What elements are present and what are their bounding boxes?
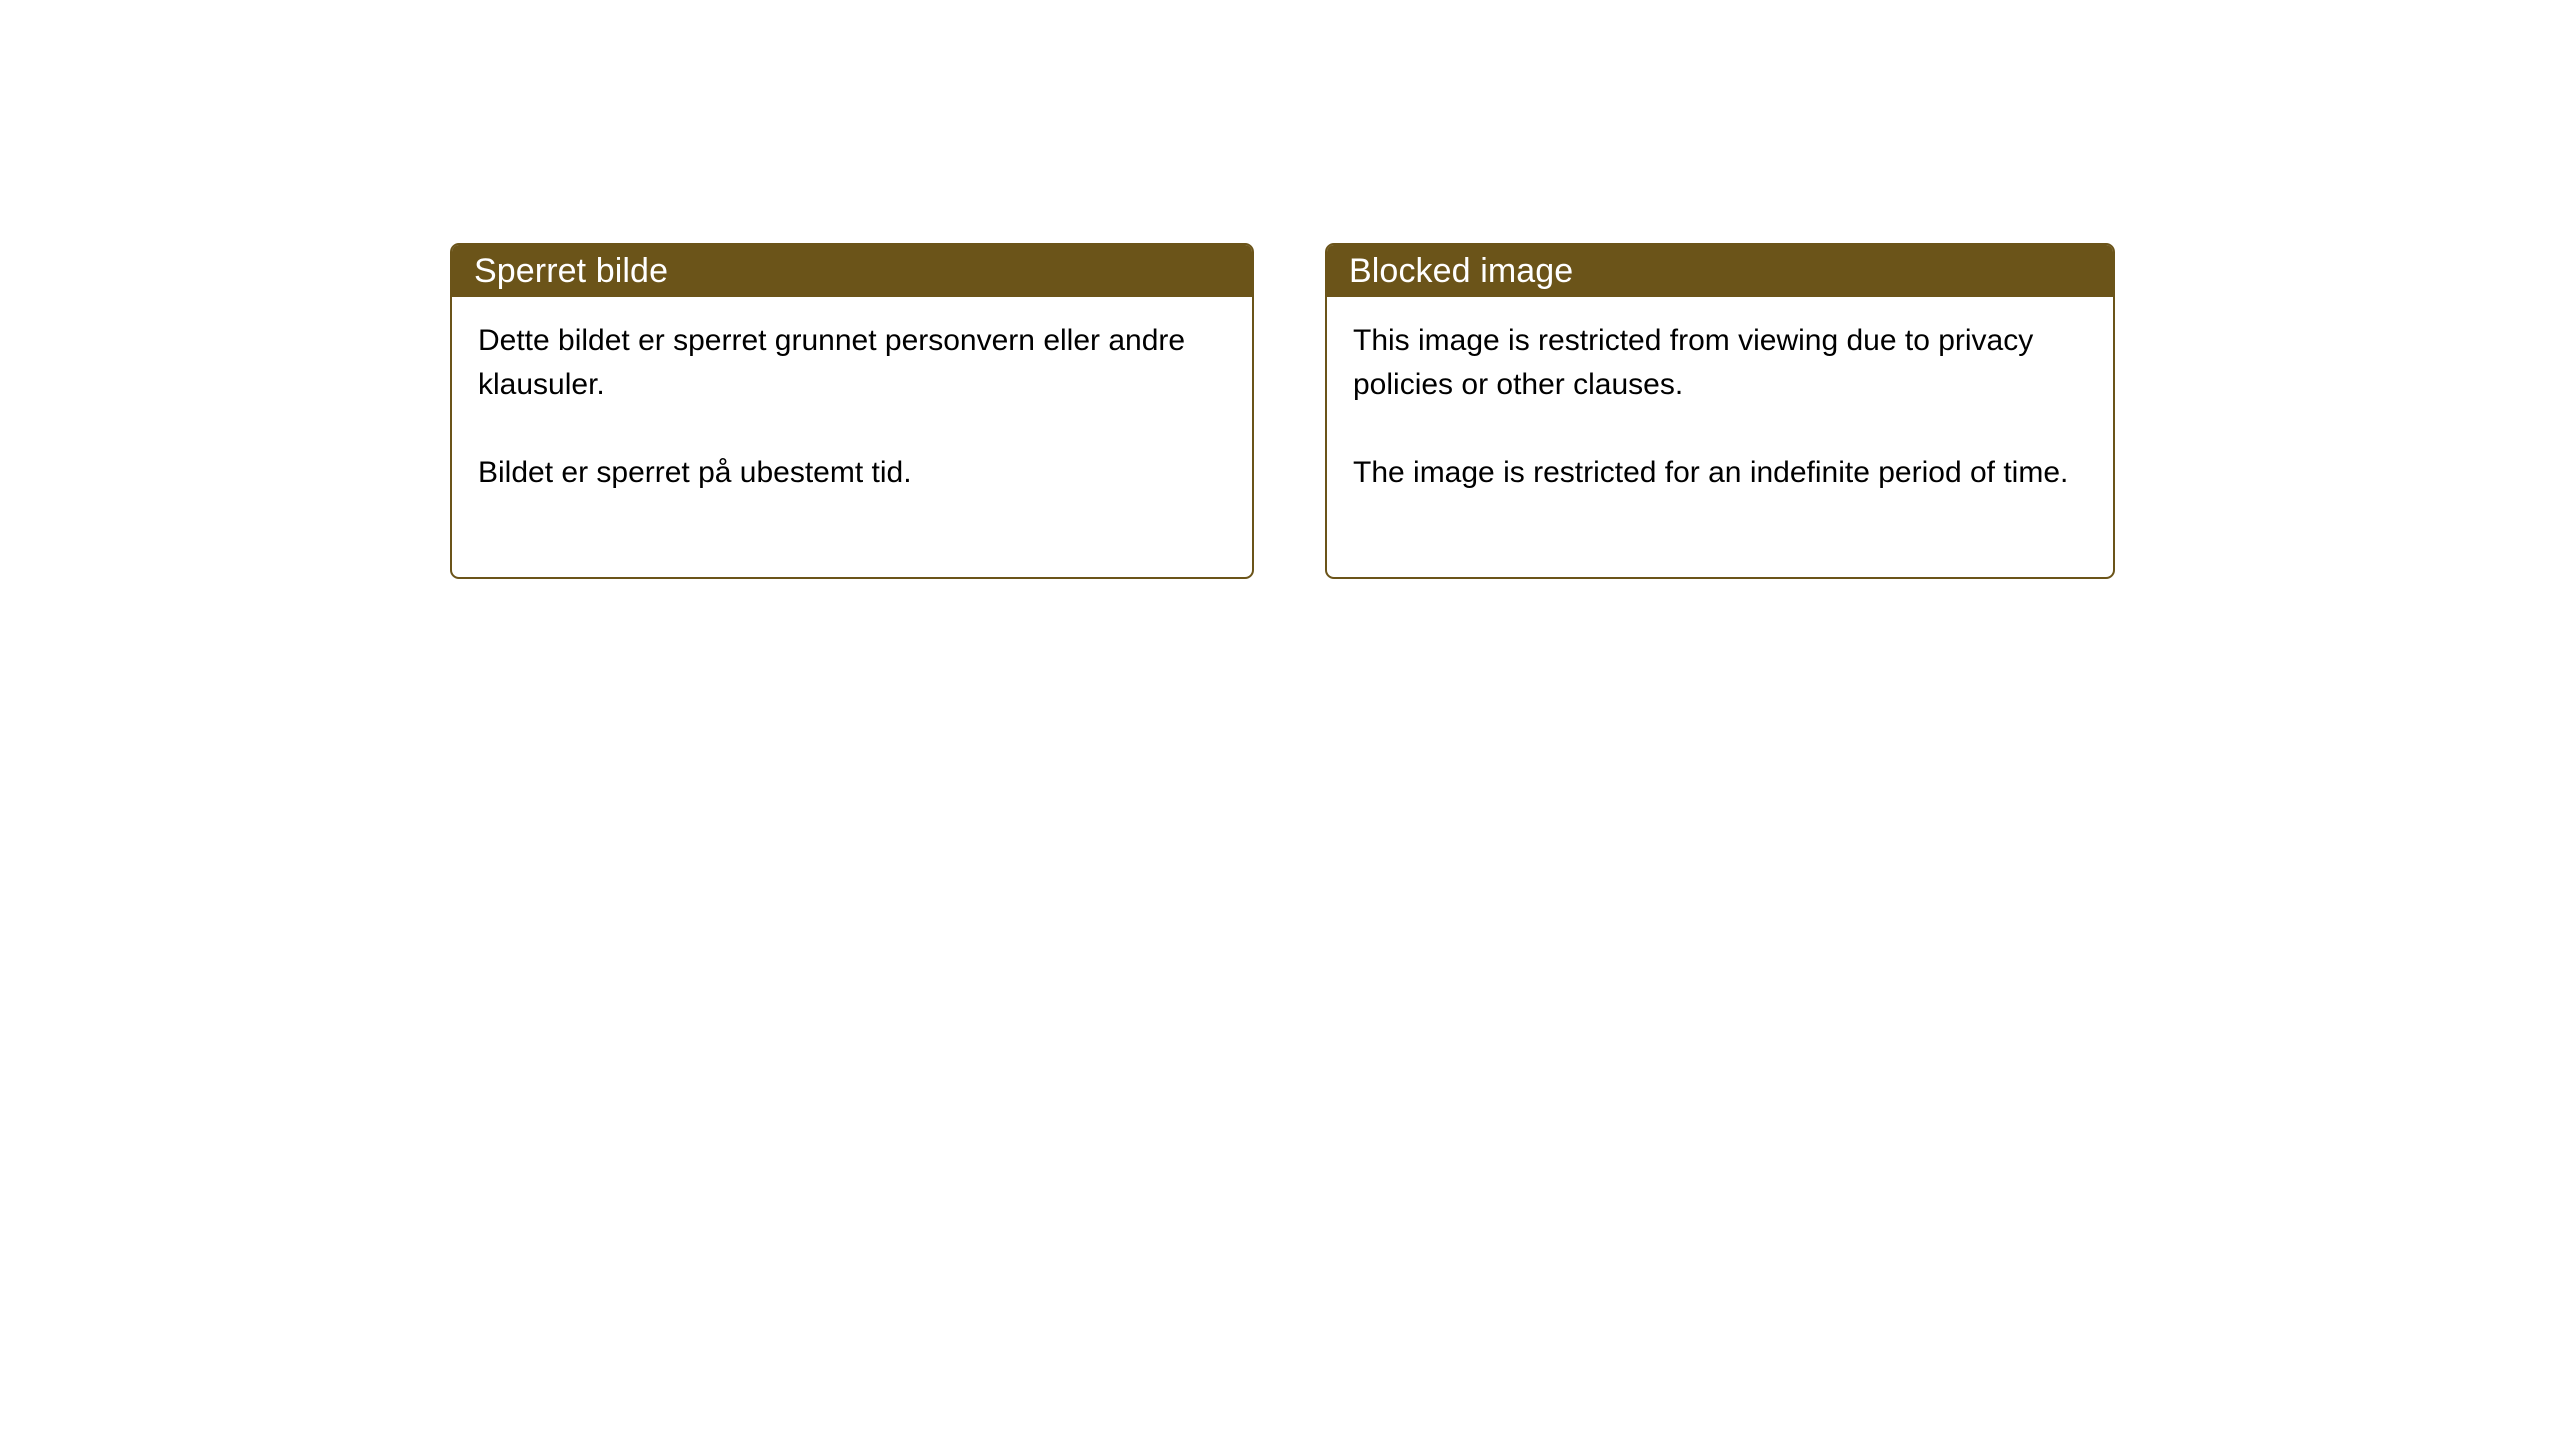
notice-paragraph: Bildet er sperret på ubestemt tid. (478, 451, 1228, 495)
notice-title-norwegian: Sperret bilde (474, 254, 668, 288)
notice-paragraph: Dette bildet er sperret grunnet personve… (478, 319, 1228, 407)
blocked-image-notice-norwegian: Sperret bilde Dette bildet er sperret gr… (450, 243, 1254, 579)
notice-paragraph: This image is restricted from viewing du… (1353, 319, 2089, 407)
blocked-image-notice-english: Blocked image This image is restricted f… (1325, 243, 2115, 579)
notice-header-english: Blocked image (1326, 244, 2114, 297)
notice-header-norwegian: Sperret bilde (451, 244, 1253, 297)
notice-title-english: Blocked image (1349, 254, 1573, 288)
notice-body-english: This image is restricted from viewing du… (1327, 297, 2113, 495)
page-root: Sperret bilde Dette bildet er sperret gr… (0, 0, 2560, 1440)
notice-body-norwegian: Dette bildet er sperret grunnet personve… (452, 297, 1252, 495)
notice-paragraph: The image is restricted for an indefinit… (1353, 451, 2089, 495)
